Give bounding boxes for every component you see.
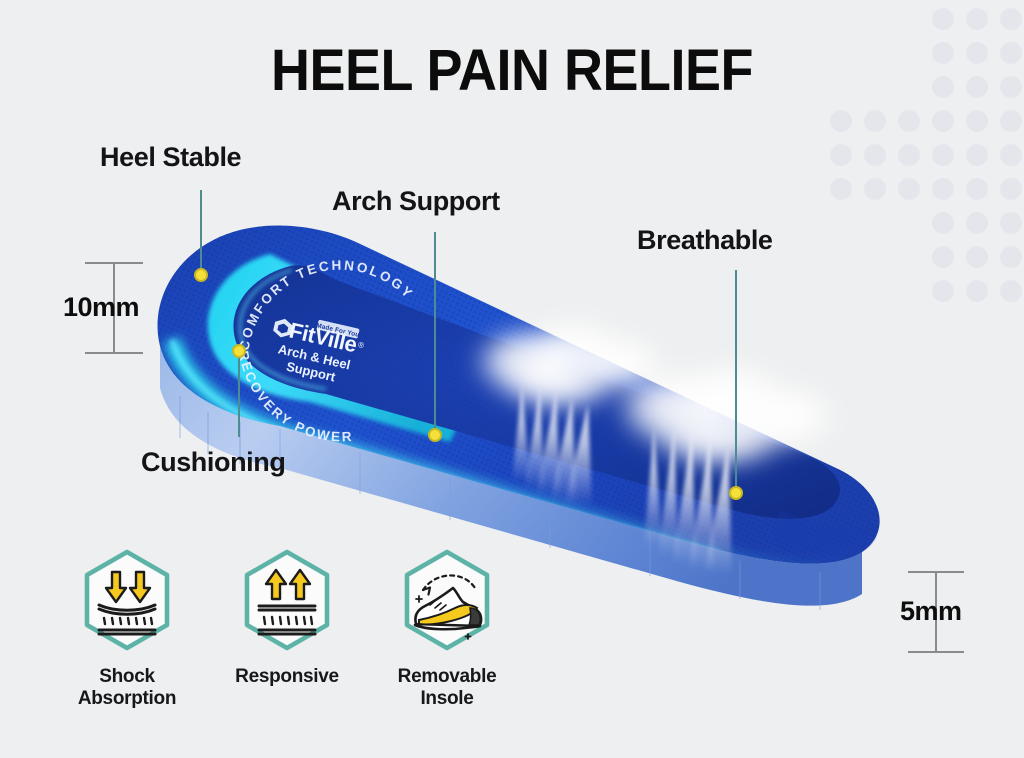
background-dot: [1000, 178, 1022, 200]
background-dot: [1000, 280, 1022, 302]
dimension-heel-thickness: 10mm: [85, 262, 143, 354]
background-dot: [1000, 246, 1022, 268]
background-dot: [966, 178, 988, 200]
infographic-canvas: HEEL PAIN RELIEF: [0, 0, 1024, 758]
background-dot: [932, 246, 954, 268]
feature-label-removable-insole: Removable Insole: [372, 666, 522, 711]
background-dot: [1000, 8, 1022, 30]
connector-arch-support: [434, 232, 436, 432]
feature-badge-removable-insole: Removable Insole: [372, 548, 522, 711]
background-dot: [830, 110, 852, 132]
background-dot: [932, 280, 954, 302]
background-dot: [966, 110, 988, 132]
background-dot: [864, 144, 886, 166]
background-dot: [898, 110, 920, 132]
background-dot: [1000, 42, 1022, 64]
background-dot: [932, 178, 954, 200]
background-dot: [1000, 144, 1022, 166]
dimension-forefoot-label: 5mm: [900, 596, 962, 627]
feature-label-responsive: Responsive: [212, 666, 362, 688]
background-dot: [966, 280, 988, 302]
pin-breathable: [729, 486, 743, 500]
pin-heel-stable: [194, 268, 208, 282]
callout-arch-support-label: Arch Support: [332, 186, 500, 217]
dimension-forefoot-thickness: 5mm: [908, 571, 964, 653]
dimension-heel-label: 10mm: [63, 292, 139, 323]
background-dot: [898, 144, 920, 166]
responsive-icon: [235, 548, 339, 652]
background-dot: [932, 212, 954, 234]
background-dot: [966, 246, 988, 268]
pin-arch-support: [428, 428, 442, 442]
connector-heel-stable: [200, 190, 202, 272]
background-dot: [966, 8, 988, 30]
dimension-cap-bottom: [908, 651, 964, 653]
callout-breathable-label: Breathable: [637, 225, 773, 256]
background-dot: [1000, 212, 1022, 234]
background-dot: [932, 110, 954, 132]
callout-heel-stable-label: Heel Stable: [100, 142, 241, 173]
callout-cushioning-label: Cushioning: [141, 447, 285, 478]
feature-label-shock-absorption: Shock Absorption: [52, 666, 202, 711]
dimension-cap-bottom: [85, 352, 143, 354]
background-dot: [864, 110, 886, 132]
background-dot: [830, 144, 852, 166]
background-dot: [966, 144, 988, 166]
shock-absorption-icon: [75, 548, 179, 652]
page-title: HEEL PAIN RELIEF: [36, 42, 988, 100]
feature-badge-shock-absorption: Shock Absorption: [52, 548, 202, 711]
pin-cushioning: [232, 344, 246, 358]
background-dot: [932, 144, 954, 166]
feature-badge-responsive: Responsive: [212, 548, 362, 688]
background-dot: [1000, 76, 1022, 98]
connector-cushioning: [238, 352, 240, 437]
background-dot: [966, 212, 988, 234]
connector-breathable: [735, 270, 737, 490]
background-dot: [1000, 110, 1022, 132]
feature-badge-row: Shock Absorption: [40, 548, 520, 738]
background-dot: [932, 8, 954, 30]
removable-insole-icon: [395, 548, 499, 652]
